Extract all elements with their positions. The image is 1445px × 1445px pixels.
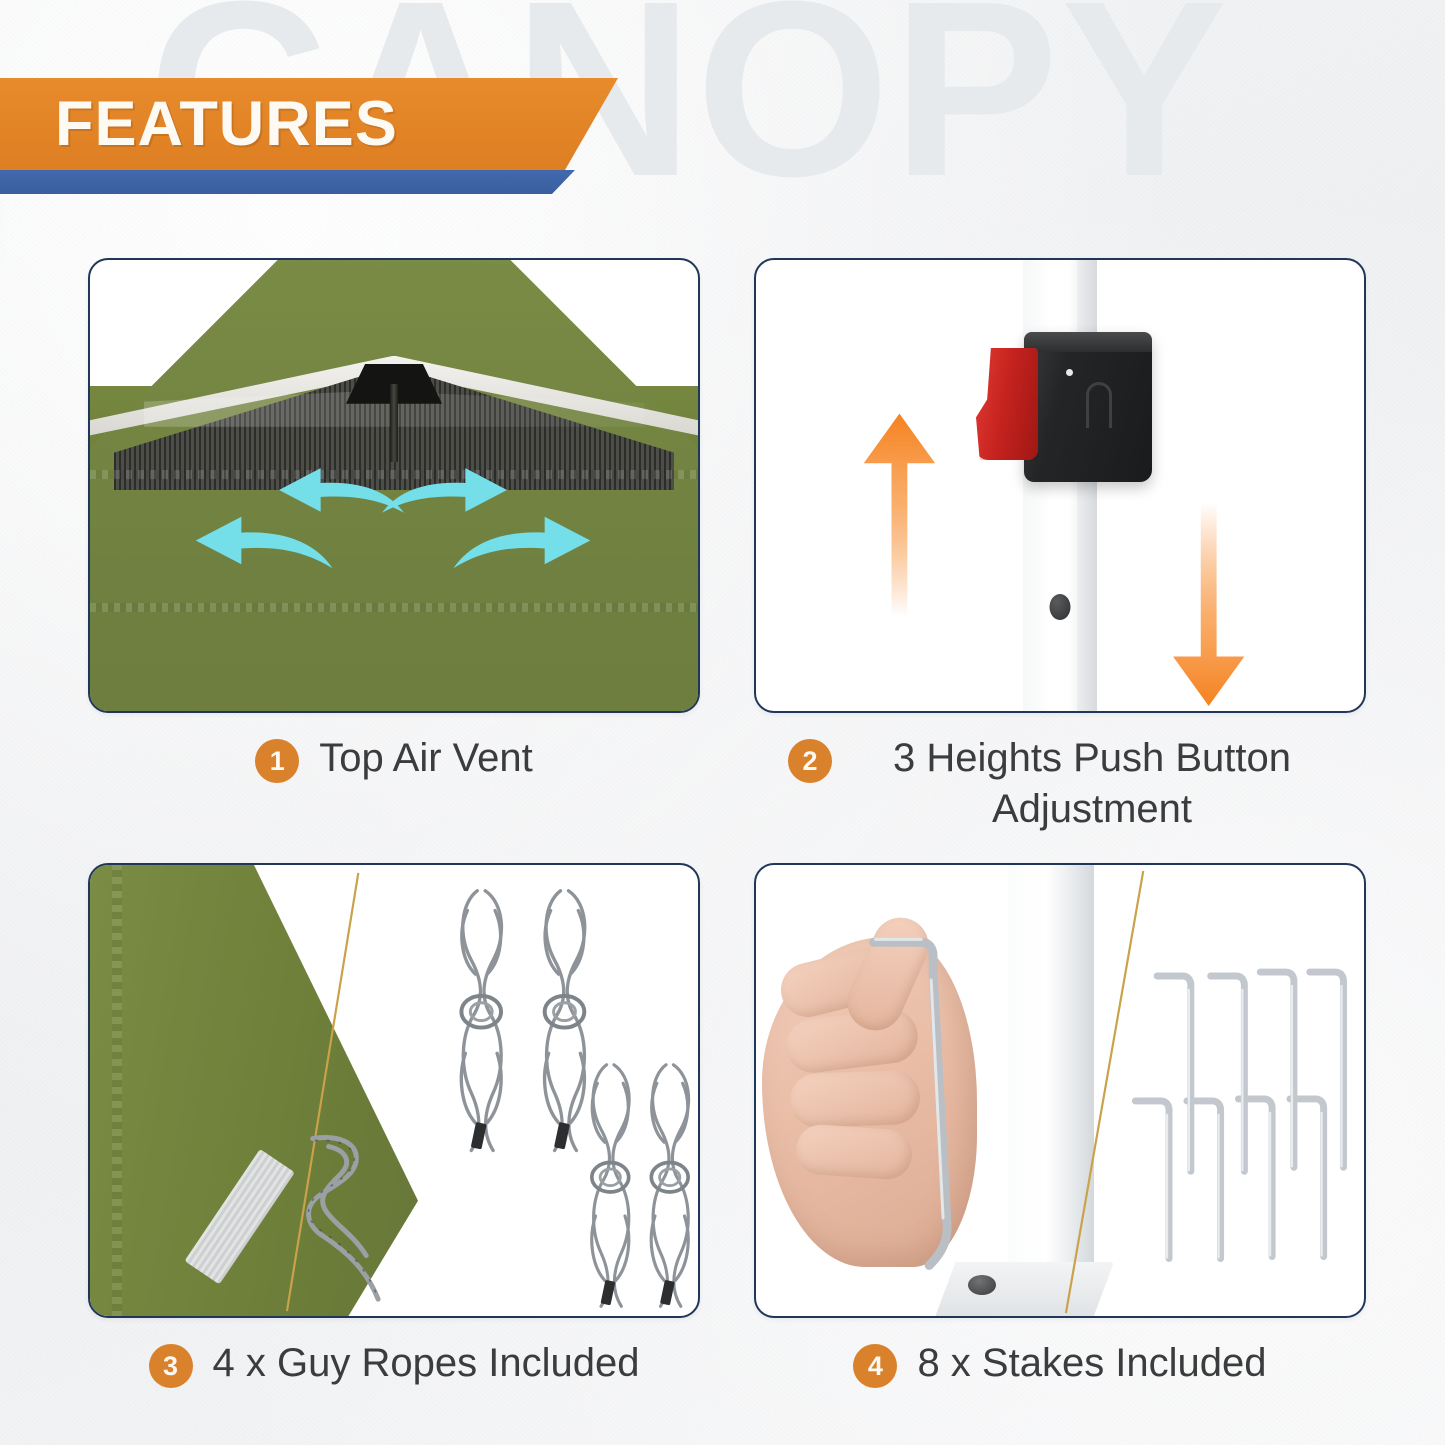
coiled-rope-2 xyxy=(545,891,585,1151)
attached-rope-fleck xyxy=(309,1140,377,1293)
feature-caption-text-4: 8 x Stakes Included xyxy=(917,1338,1266,1389)
features-grid: 1 Top Air Vent 2 3 Heights Push Button A… xyxy=(88,258,1366,1438)
rope-knot xyxy=(461,996,501,1028)
feature-caption-3: 3 4 x Guy Ropes Included xyxy=(88,1318,700,1428)
ropes-illustration xyxy=(90,865,698,1316)
attached-guy-rope xyxy=(309,1138,379,1300)
banner-blue-underline xyxy=(0,170,575,194)
arrow-up-icon xyxy=(864,414,935,617)
airflow-arrow-left-upper xyxy=(279,468,404,513)
feature-image-panel-3 xyxy=(88,863,700,1318)
feature-caption-text-1: Top Air Vent xyxy=(319,733,532,784)
feature-caption-2: 2 3 Heights Push Button Adjustment xyxy=(754,713,1366,863)
airflow-arrow-right-lower xyxy=(453,517,590,569)
height-adjust-arrows xyxy=(756,260,1364,711)
arrow-down-icon xyxy=(1173,503,1244,706)
stake-1 xyxy=(1157,976,1191,1171)
rope-tensioner xyxy=(554,1122,570,1149)
stake-2 xyxy=(1211,976,1245,1171)
feature-caption-4: 4 8 x Stakes Included xyxy=(754,1318,1366,1428)
banner-title: FEATURES xyxy=(55,90,398,158)
rope-knot xyxy=(592,1163,629,1192)
feature-image-panel-1 xyxy=(88,258,700,713)
coiled-guy-ropes xyxy=(461,891,688,1307)
feature-image-panel-4 xyxy=(754,863,1366,1318)
stake-set xyxy=(1135,972,1343,1258)
stake-3 xyxy=(1260,972,1294,1167)
feature-caption-text-2: 3 Heights Push Button Adjustment xyxy=(852,733,1332,835)
feature-number-badge-1: 1 xyxy=(255,739,299,783)
feature-number-badge-2: 2 xyxy=(788,739,832,783)
feature-caption-text-3: 4 x Guy Ropes Included xyxy=(213,1338,640,1389)
rope-tensioner xyxy=(660,1280,675,1306)
gold-divider-line xyxy=(1066,871,1143,1313)
feature-image-panel-2 xyxy=(754,258,1366,713)
airflow-arrows xyxy=(90,260,698,711)
coiled-rope-1 xyxy=(461,891,501,1151)
rope-knot xyxy=(545,996,585,1028)
rope-tensioner xyxy=(471,1122,487,1149)
airflow-arrow-right-upper xyxy=(382,468,507,513)
feature-number-badge-3: 3 xyxy=(149,1344,193,1388)
feature-caption-1: 1 Top Air Vent xyxy=(88,713,700,863)
coiled-rope-4 xyxy=(651,1065,688,1307)
rope-knot xyxy=(651,1163,688,1192)
rope-tensioner xyxy=(600,1280,615,1306)
coiled-rope-3 xyxy=(592,1065,629,1307)
stake-5 xyxy=(1135,1101,1169,1259)
gold-divider-line xyxy=(287,873,358,1311)
airflow-arrow-left-lower xyxy=(196,517,333,569)
infographic-canvas: CANOPY FEATURES xyxy=(0,0,1445,1445)
feature-number-badge-4: 4 xyxy=(853,1344,897,1388)
stakes-illustration xyxy=(756,865,1364,1316)
